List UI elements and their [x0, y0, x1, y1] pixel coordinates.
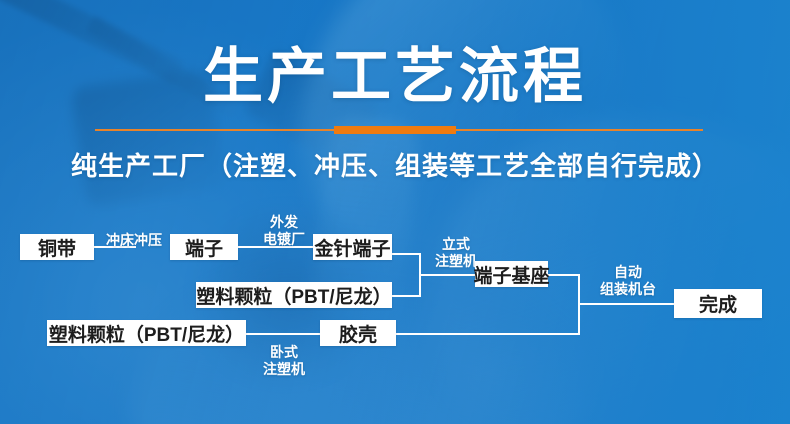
- flow-node-terminal[interactable]: 端子: [170, 234, 238, 260]
- flow-node-rubber-shell[interactable]: 胶壳: [320, 320, 396, 346]
- flow-node-finish[interactable]: 完成: [674, 289, 762, 318]
- process-flow-diagram: 冲床冲压 外发 电镀厂 立式 注塑机 卧式 注塑机 自动 组装机台 铜带 端子 …: [0, 0, 790, 424]
- connector-merge-to-finish: [578, 303, 675, 305]
- production-process-banner: 生产工艺流程 纯生产工厂（注塑、冲压、组装等工艺全部自行完成） 冲床冲压 外发 …: [0, 0, 790, 424]
- connector-goldpin-out: [391, 253, 421, 255]
- process-label-line1: 冲床冲压: [98, 232, 170, 249]
- process-label-line2: 组装机台: [592, 281, 664, 298]
- connector-merge-to-base: [419, 274, 476, 276]
- connector-pellet2-to-shell: [245, 333, 321, 335]
- process-label-line1: 外发: [256, 214, 312, 231]
- flow-node-gold-pin-terminal[interactable]: 金针端子: [313, 234, 392, 260]
- connector-base-out: [547, 274, 580, 276]
- process-label-auto-assembly: 自动 组装机台: [592, 264, 664, 298]
- process-label-line1: 卧式: [256, 344, 312, 361]
- flow-node-plastic-pellet-upper[interactable]: 塑料颗粒（PBT/尼龙）: [196, 282, 392, 308]
- process-label-line1: 自动: [592, 264, 664, 281]
- process-label-line1: 立式: [428, 236, 484, 253]
- flow-node-terminal-base[interactable]: 端子基座: [475, 261, 548, 287]
- process-label-outsourced-plating: 外发 电镀厂: [256, 214, 312, 248]
- flow-node-plastic-pellet-lower[interactable]: 塑料颗粒（PBT/尼龙）: [47, 320, 246, 346]
- process-label-punch-press: 冲床冲压: [98, 232, 170, 249]
- process-label-line2: 电镀厂: [256, 231, 312, 248]
- flow-node-copper-strip[interactable]: 铜带: [20, 234, 94, 260]
- connector-pellet1-out: [391, 295, 421, 297]
- connector-shell-out: [395, 333, 580, 335]
- process-label-horizontal-molding: 卧式 注塑机: [256, 344, 312, 378]
- process-label-line2: 注塑机: [256, 361, 312, 378]
